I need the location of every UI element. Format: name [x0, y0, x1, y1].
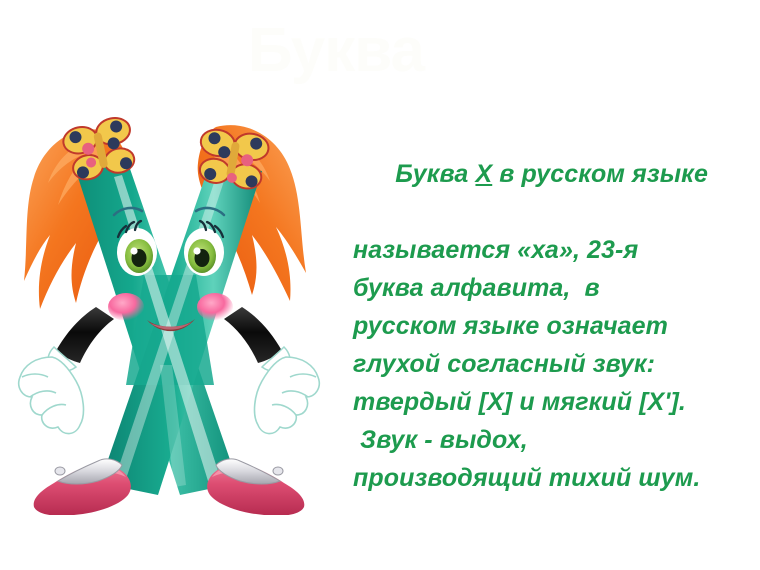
page-title: Буква — [248, 20, 508, 82]
body-line-6: твердый [Х] и мягкий [Х']. — [353, 383, 743, 421]
body-line-1-post: в русском языке — [492, 160, 708, 188]
body-line-1-pre: Буква — [395, 160, 475, 188]
right-shoe-icon — [207, 459, 304, 515]
body-line-4: русском языке означает — [353, 307, 743, 345]
letter-x-emphasis: Х — [475, 160, 492, 188]
body-line-1: Буква Х в русском языке — [353, 117, 743, 231]
body-line-3: буква алфавита, в — [353, 269, 743, 307]
body-line-2: называется «ха», 23-я — [353, 231, 743, 269]
slide-canvas: Буква — [0, 0, 760, 570]
body-line-5: глухой согласный звук: — [353, 345, 743, 383]
body-paragraph: Буква Х в русском языке называется «ха»,… — [353, 117, 743, 497]
body-line-8: производящий тихий шум. — [353, 459, 743, 497]
body-line-7: Звук - выдох, — [353, 421, 743, 459]
left-shoe-icon — [34, 459, 131, 515]
eyes — [117, 228, 224, 276]
letter-x-character-illustration — [10, 85, 330, 515]
